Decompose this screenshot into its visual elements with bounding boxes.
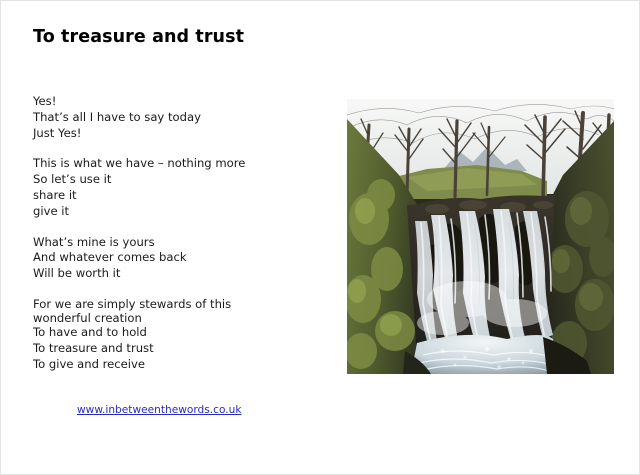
poem-line: What’s mine is yours: [33, 235, 283, 251]
poem-line: To treasure and trust: [33, 341, 283, 357]
poem-line: share it: [33, 188, 283, 204]
page-title: To treasure and trust: [33, 27, 244, 47]
poem-stanza: This is what we have – nothing more So l…: [33, 156, 283, 219]
poem-line: give it: [33, 204, 283, 220]
waterfall-illustration: [347, 99, 614, 374]
poem-line: That’s all I have to say today: [33, 110, 283, 126]
poem-line: This is what we have – nothing more: [33, 156, 283, 172]
poem-stanza: Yes! That’s all I have to say today Just…: [33, 94, 283, 141]
poem-line: For we are simply stewards of this wonde…: [33, 297, 283, 325]
poem-stanza: What’s mine is yours And whatever comes …: [33, 235, 283, 282]
slide-page: To treasure and trust Yes! That’s all I …: [0, 0, 640, 475]
website-link[interactable]: www.inbetweenthewords.co.uk: [77, 404, 242, 416]
poem-line: Just Yes!: [33, 126, 283, 142]
poem-line: To have and to hold: [33, 325, 283, 341]
poem-line: Yes!: [33, 94, 283, 110]
poem-line: To give and receive: [33, 357, 283, 373]
poem-stanza: For we are simply stewards of this wonde…: [33, 297, 283, 373]
waterfall-photo: [347, 99, 614, 374]
poem-line: So let’s use it: [33, 172, 283, 188]
poem-line: And whatever comes back: [33, 250, 283, 266]
website-link-wrapper: www.inbetweenthewords.co.uk: [77, 404, 242, 416]
poem-body: Yes! That’s all I have to say today Just…: [33, 94, 283, 373]
poem-line: Will be worth it: [33, 266, 283, 282]
